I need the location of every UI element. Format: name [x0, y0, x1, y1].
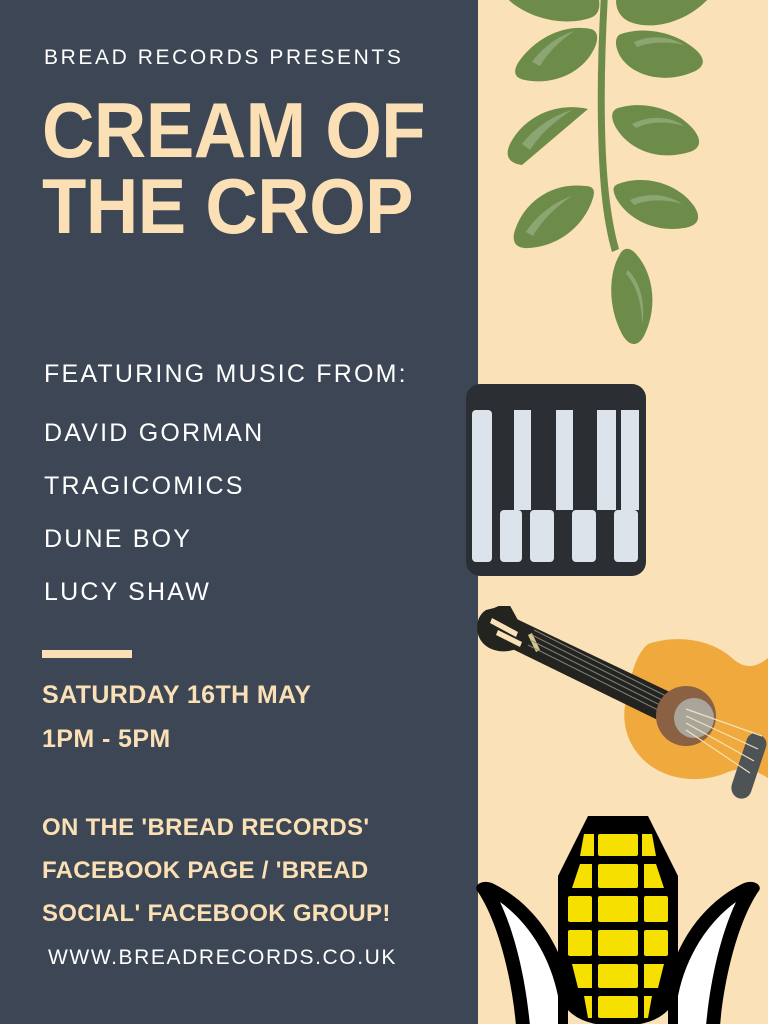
list-item: TRAGICOMICS — [44, 471, 264, 524]
event-poster: BREAD RECORDS PRESENTS CREAM OF THE CROP… — [0, 0, 768, 1024]
location-line-2: FACEBOOK PAGE / 'BREAD — [42, 849, 462, 892]
cream-background-panel — [478, 0, 768, 1024]
event-time: 1PM - 5PM — [42, 717, 311, 761]
artist-list: DAVID GORMAN TRAGICOMICS DUNE BOY LUCY S… — [44, 418, 264, 630]
schedule-block: SATURDAY 16TH MAY 1PM - 5PM — [42, 673, 311, 761]
website-url: WWW.BREADRECORDS.CO.UK — [48, 946, 397, 970]
lineup-label: FEATURING MUSIC FROM: — [44, 360, 408, 389]
location-line-3: SOCIAL' FACEBOOK GROUP! — [42, 892, 462, 935]
list-item: DUNE BOY — [44, 524, 264, 577]
event-date: SATURDAY 16TH MAY — [42, 673, 311, 717]
page-title-line-2: THE CROP — [42, 168, 442, 244]
location-line-1: ON THE 'BREAD RECORDS' — [42, 806, 462, 849]
list-item: LUCY SHAW — [44, 577, 264, 630]
presents-eyebrow: BREAD RECORDS PRESENTS — [44, 46, 403, 70]
location-block: ON THE 'BREAD RECORDS' FACEBOOK PAGE / '… — [42, 806, 462, 935]
page-title: CREAM OF THE CROP — [42, 92, 442, 245]
poster-text-column: BREAD RECORDS PRESENTS CREAM OF THE CROP… — [0, 0, 478, 1024]
page-title-line-1: CREAM OF — [42, 92, 442, 168]
section-divider — [42, 650, 132, 658]
list-item: DAVID GORMAN — [44, 418, 264, 471]
